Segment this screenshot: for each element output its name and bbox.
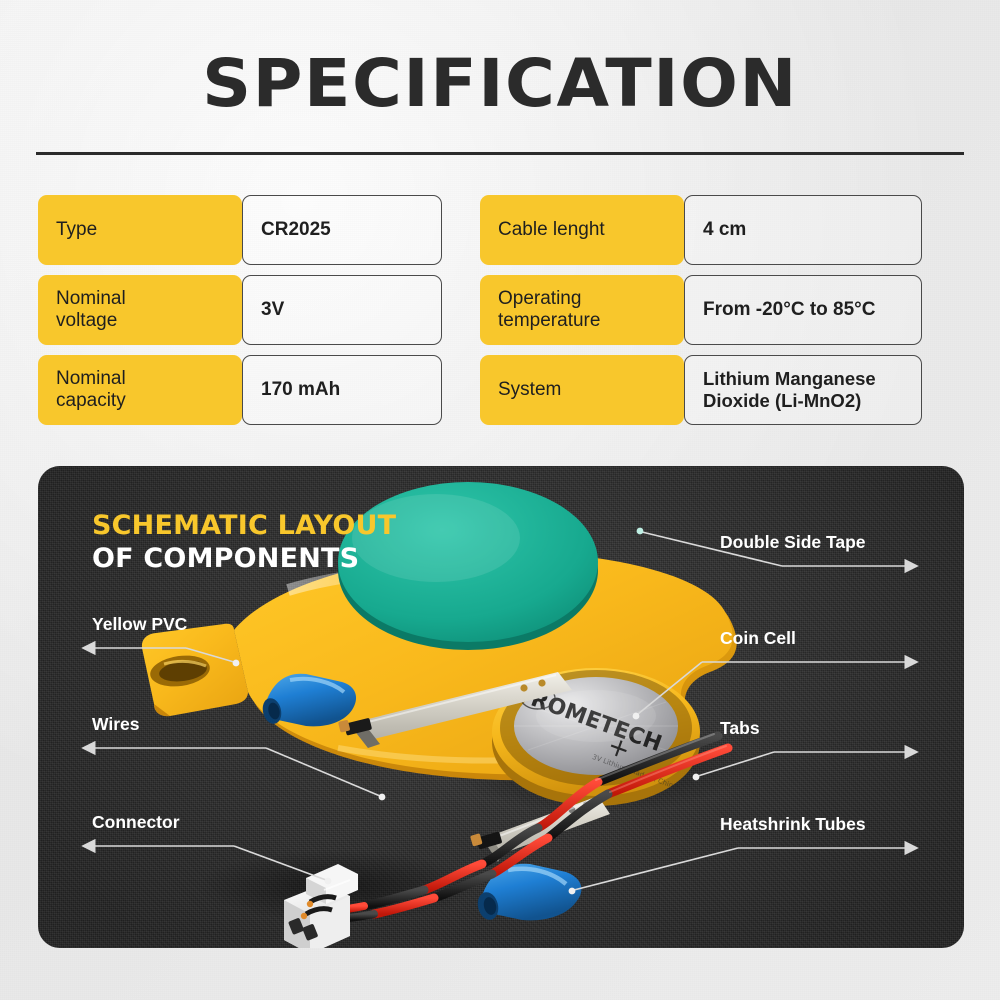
- spec-label-nominal-capacity: Nominal capacity: [38, 355, 242, 425]
- spec-label-text: Nominal voltage: [56, 288, 126, 332]
- page-title: SPECIFICATION: [0, 48, 1000, 120]
- spec-label-text: Cable lenght: [498, 219, 605, 241]
- callout-leader-lines: [38, 466, 964, 948]
- spec-label-line2: temperature: [498, 310, 600, 331]
- spec-label-line1: Nominal: [56, 368, 126, 389]
- spec-value-text: From -20°C to 85°C: [703, 299, 876, 321]
- spec-value-line2: Dioxide (Li-MnO2): [703, 390, 861, 411]
- spec-label-line1: Operating: [498, 288, 581, 309]
- spec-value-text: 4 cm: [703, 219, 746, 241]
- spec-label-text: System: [498, 379, 561, 401]
- spec-value-text: 170 mAh: [261, 379, 340, 401]
- spec-label-line2: voltage: [56, 310, 117, 331]
- spec-value-system: Lithium Manganese Dioxide (Li-MnO2): [684, 355, 922, 425]
- column-gap: [442, 355, 480, 425]
- spec-label-text: Type: [56, 219, 97, 241]
- spec-label-text: Nominal capacity: [56, 368, 126, 412]
- column-gap: [442, 275, 480, 345]
- spec-value-nominal-capacity: 170 mAh: [242, 355, 442, 425]
- spec-value-text: CR2025: [261, 219, 331, 241]
- spec-label-text: Operating temperature: [498, 288, 600, 332]
- spec-label-cable-length: Cable lenght: [480, 195, 684, 265]
- spec-label-nominal-voltage: Nominal voltage: [38, 275, 242, 345]
- spec-label-operating-temperature: Operating temperature: [480, 275, 684, 345]
- specification-page: SPECIFICATION Type CR2025 Cable lenght 4…: [0, 0, 1000, 1000]
- spec-label-line1: Nominal: [56, 288, 126, 309]
- schematic-layout-panel: ROMETECH + 3V Lithium Made in China RT: [38, 466, 964, 948]
- column-gap: [442, 195, 480, 265]
- spec-value-operating-temperature: From -20°C to 85°C: [684, 275, 922, 345]
- title-divider: [36, 152, 964, 155]
- spec-label-system: System: [480, 355, 684, 425]
- spec-value-line1: Lithium Manganese: [703, 368, 876, 389]
- spec-label-line2: capacity: [56, 390, 126, 411]
- spec-value-text: Lithium Manganese Dioxide (Li-MnO2): [703, 368, 876, 412]
- spec-value-text: 3V: [261, 299, 284, 321]
- spec-value-nominal-voltage: 3V: [242, 275, 442, 345]
- spec-label-type: Type: [38, 195, 242, 265]
- spec-value-cable-length: 4 cm: [684, 195, 922, 265]
- spec-value-type: CR2025: [242, 195, 442, 265]
- spec-table: Type CR2025 Cable lenght 4 cm Nominal vo…: [38, 195, 964, 425]
